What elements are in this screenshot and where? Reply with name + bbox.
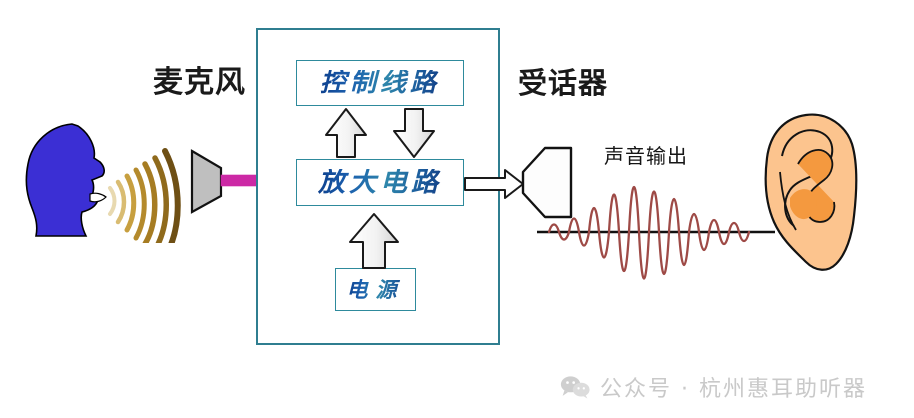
microphone-label: 麦克风 [153,57,246,101]
block-control-circuit[interactable]: 控制线路 [296,60,464,106]
microphone-connector [221,175,256,186]
arrow-right-amp-to-receiver-icon [463,168,525,200]
head-shape [26,124,104,236]
block-amplifier-circuit[interactable]: 放大电路 [296,159,464,206]
sound-waveform-chart [535,150,780,320]
block-amplifier-circuit-label: 放大电路 [318,169,442,196]
waveform-trace [549,187,749,279]
arrow-up-power-to-amp-icon [348,212,400,270]
arrow-up-amp-to-control-icon [324,107,368,159]
watermark-text: 公众号 · 杭州惠耳助听器 [600,371,867,403]
ear-figure [762,112,874,274]
block-control-circuit-label: 控制线路 [320,70,440,96]
microphone-body [192,151,221,212]
speaking-head-figure [10,118,185,243]
diagram-canvas: 控制线路 放大电路 电源 [0,0,914,418]
watermark: 公众号 · 杭州惠耳助听器 [560,371,867,403]
receiver-label: 受话器 [518,60,608,102]
arrow-down-control-to-amp-icon [392,107,436,159]
mouth-shape [90,193,106,202]
wechat-icon [560,375,590,399]
block-power-supply-label: 电源 [347,279,405,300]
sound-waves-in-icon [110,151,178,243]
block-power-supply[interactable]: 电源 [335,268,416,311]
microphone-figure [188,148,260,216]
